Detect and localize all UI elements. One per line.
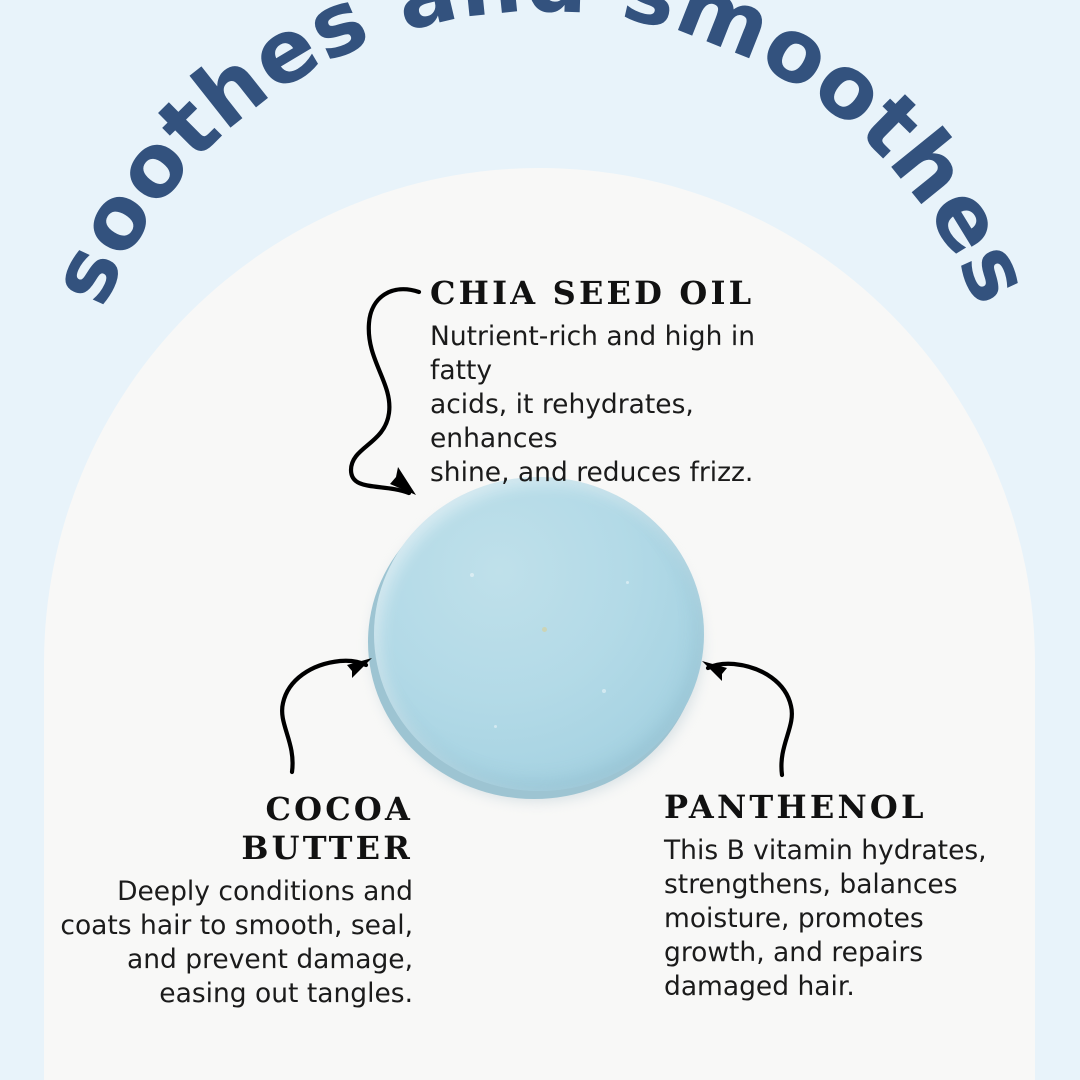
callout-title: COCOA BUTTER xyxy=(60,790,413,868)
callout-body: This B vitamin hydrates, strengthens, ba… xyxy=(664,834,1024,1004)
product-speck xyxy=(626,581,629,584)
product-speck xyxy=(470,573,474,577)
infographic-canvas: soothes and smoothes xyxy=(0,0,1080,1080)
callout-body: Nutrient-rich and high in fatty acids, i… xyxy=(430,320,820,490)
shampoo-bar-disc xyxy=(368,477,706,802)
product-face xyxy=(374,477,704,791)
product-speck xyxy=(542,627,547,632)
callout-title: PANTHENOL xyxy=(664,788,1024,827)
callout-panthenol: PANTHENOL This B vitamin hydrates, stren… xyxy=(664,788,1024,1004)
callout-cocoa-butter: COCOA BUTTER Deeply conditions and coats… xyxy=(60,790,413,1011)
callout-body: Deeply conditions and coats hair to smoo… xyxy=(60,875,413,1011)
product-speck xyxy=(602,689,606,693)
callout-title: CHIA SEED OIL xyxy=(430,274,820,313)
callout-chia-seed-oil: CHIA SEED OIL Nutrient-rich and high in … xyxy=(430,274,820,490)
product-speck xyxy=(494,725,497,728)
